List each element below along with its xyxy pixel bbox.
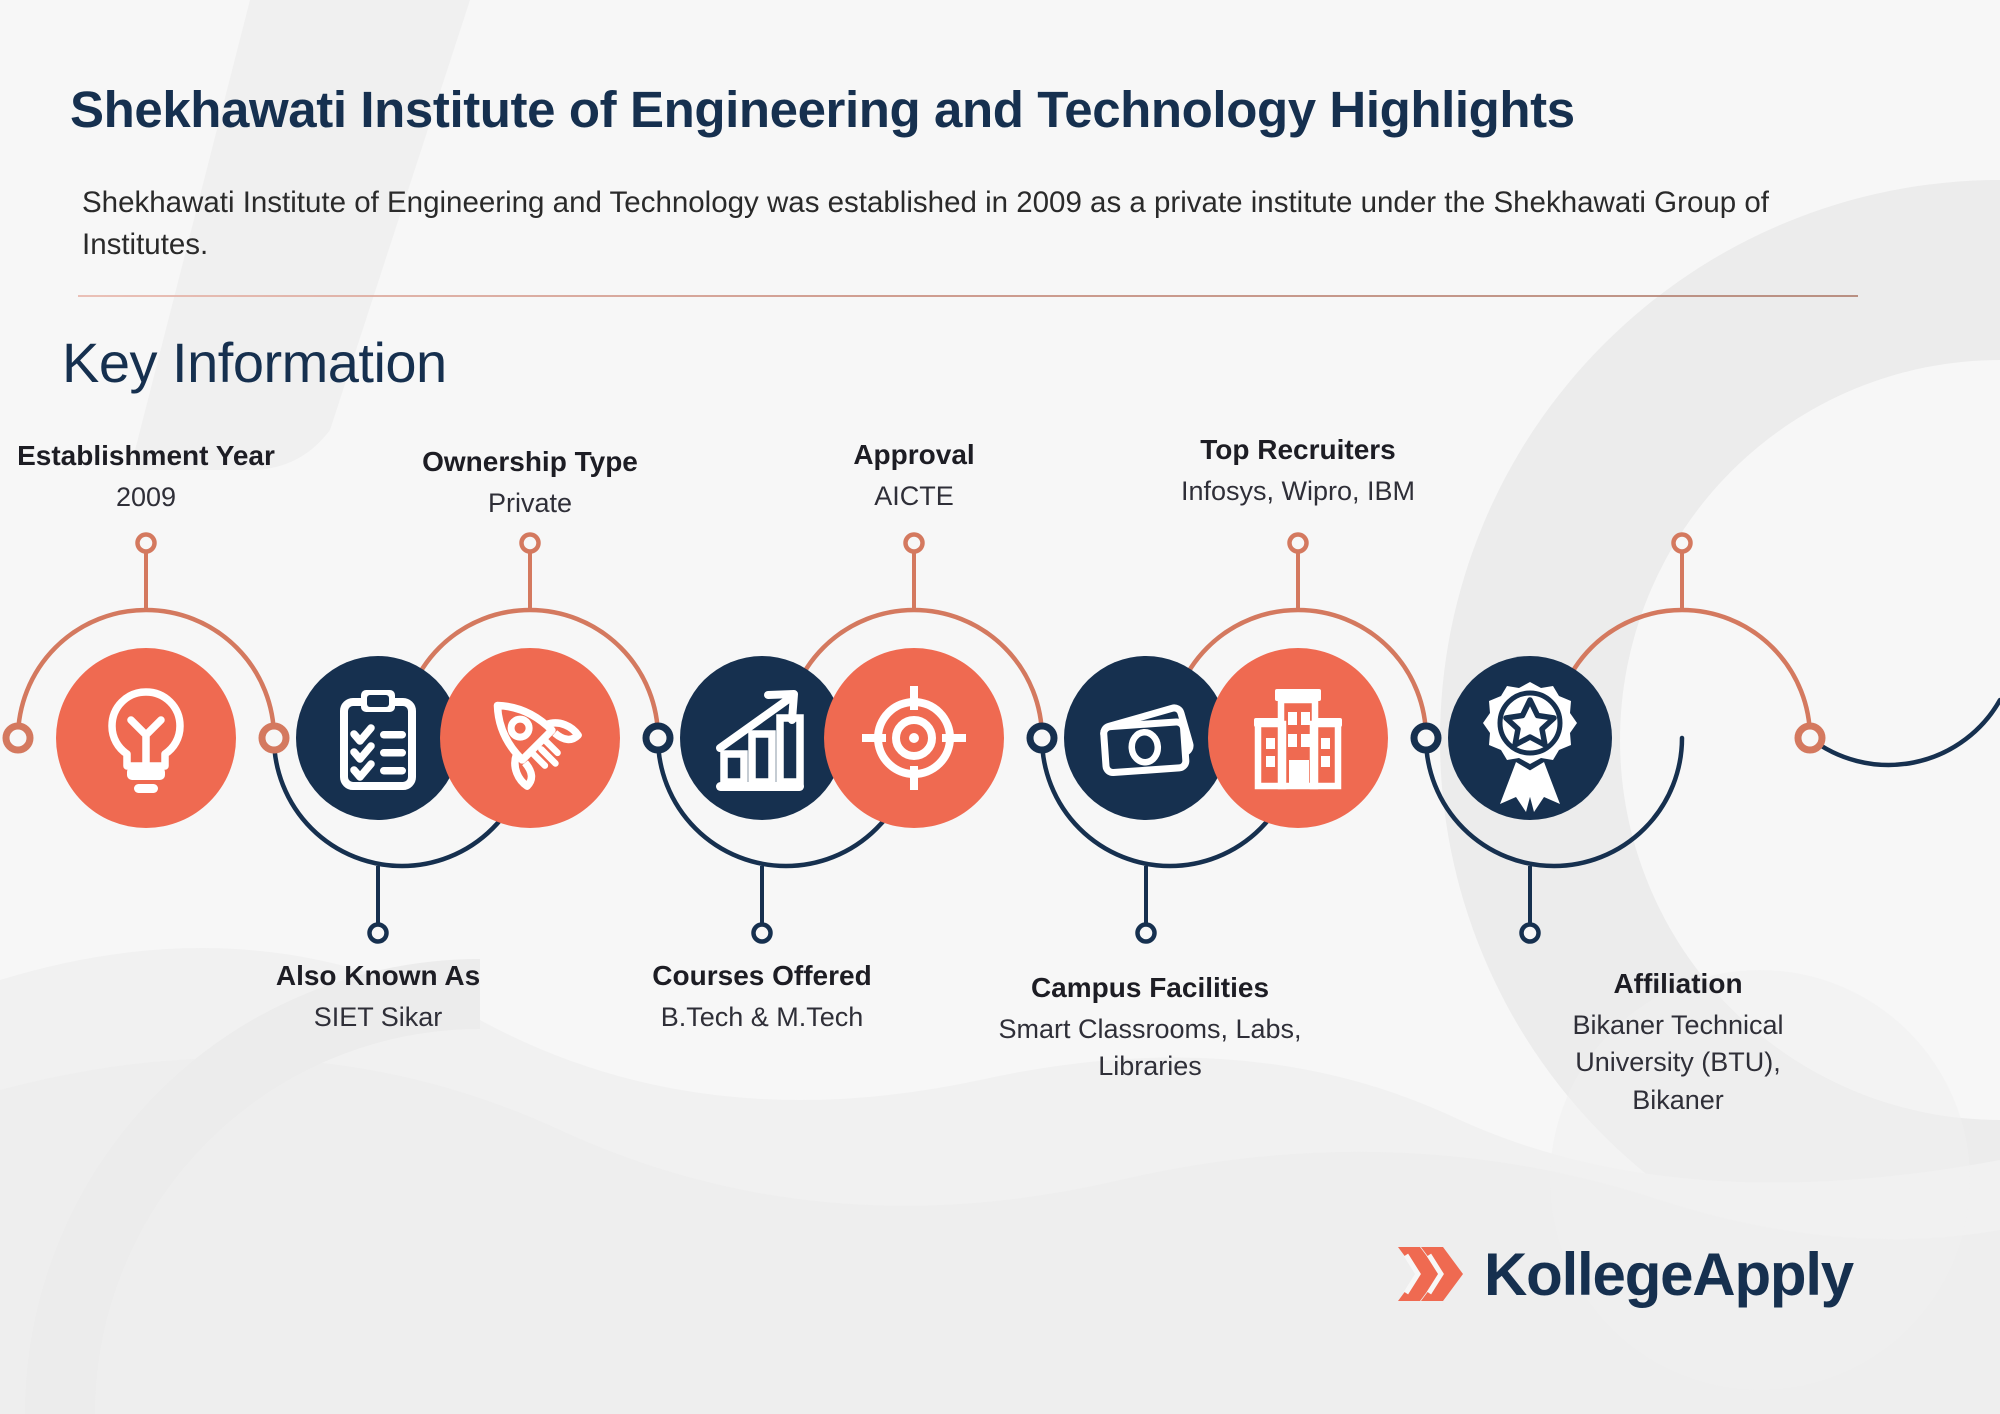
kollegeapply-logo[interactable]: KollegeApply [1390,1237,1853,1311]
label-value: B.Tech & M.Tech [582,999,942,1036]
label-value: 2009 [0,479,326,516]
page-title: Shekhawati Institute of Engineering and … [70,80,1575,139]
label-value: Private [350,485,710,522]
label-title: Establishment Year [0,438,326,473]
label-title: Campus Facilities [966,970,1334,1005]
label-title: Affiliation [1545,966,1811,1001]
title-divider [78,295,1858,297]
label-value: AICTE [734,478,1094,515]
node-label-top-recruiters: Top Recruiters Infosys, Wipro, IBM [1118,432,1478,510]
content-layer: Shekhawati Institute of Engineering and … [0,0,2000,1414]
node-label-also-known-as: Also Known As SIET Sikar [198,958,558,1036]
node-label-campus-facilities: Campus Facilities Smart Classrooms, Labs… [966,970,1334,1086]
logo-text: KollegeApply [1484,1240,1853,1309]
label-value: SIET Sikar [198,999,558,1036]
node-label-courses-offered: Courses Offered B.Tech & M.Tech [582,958,942,1036]
label-title: Also Known As [198,958,558,993]
label-title: Top Recruiters [1118,432,1478,467]
section-heading: Key Information [62,330,447,395]
node-label-ownership-type: Ownership Type Private [350,444,710,522]
page-subtitle: Shekhawati Institute of Engineering and … [82,182,1802,266]
label-value: Infosys, Wipro, IBM [1118,473,1478,510]
label-title: Courses Offered [582,958,942,993]
node-label-approval: Approval AICTE [734,437,1094,515]
double-chevron-icon [1390,1237,1464,1311]
label-title: Ownership Type [350,444,710,479]
node-label-establishment-year: Establishment Year 2009 [0,438,326,516]
label-value: Bikaner Technical University (BTU), Bika… [1545,1007,1811,1119]
node-label-affiliation: Affiliation Bikaner Technical University… [1545,966,1811,1119]
label-value: Smart Classrooms, Labs, Libraries [966,1011,1334,1086]
label-title: Approval [734,437,1094,472]
